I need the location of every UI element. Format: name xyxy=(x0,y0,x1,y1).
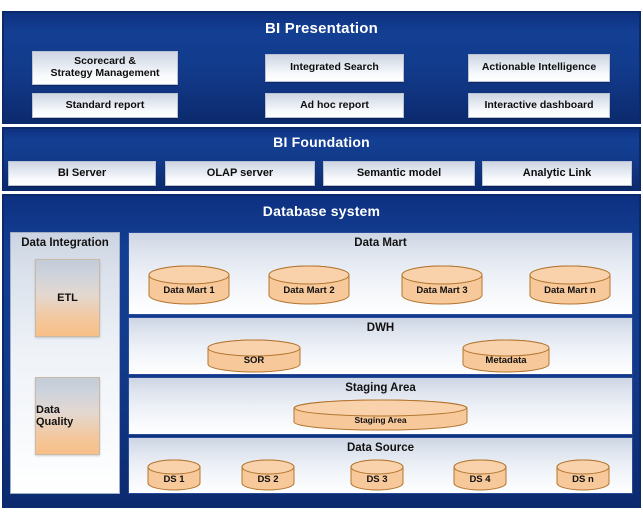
layer-title-dwh: DWH xyxy=(129,322,632,334)
presentation-item-integrated-search[interactable]: Integrated Search xyxy=(265,54,404,82)
foundation-item-label: Semantic model xyxy=(357,167,441,179)
foundation-item-analytic-link[interactable]: Analytic Link xyxy=(482,161,632,186)
foundation-item-label: BI Server xyxy=(58,167,106,179)
data-integration-box-label: Data Quality xyxy=(36,404,99,428)
presentation-item-label-line2: Strategy Management xyxy=(50,68,159,80)
foundation-item-label: Analytic Link xyxy=(523,167,591,179)
layer-title-data-source: Data Source xyxy=(129,442,632,454)
cylinder-data-mart-2[interactable]: Data Mart 2 xyxy=(268,265,350,305)
presentation-item-interactive-dashboard[interactable]: Interactive dashboard xyxy=(468,93,610,118)
cylinder-ds-1[interactable]: DS 1 xyxy=(147,459,201,491)
cylinder-label: Metadata xyxy=(462,355,550,366)
presentation-item-label: Integrated Search xyxy=(290,62,379,74)
cylinder-label: DS n xyxy=(556,474,610,485)
cylinder-label: SOR xyxy=(207,355,301,366)
cylinder-label: DS 4 xyxy=(453,474,507,485)
presentation-item-standard-report[interactable]: Standard report xyxy=(32,93,178,118)
cylinder-ds-2[interactable]: DS 2 xyxy=(241,459,295,491)
foundation-item-bi-server[interactable]: BI Server xyxy=(8,161,156,186)
cylinder-label: Data Mart n xyxy=(529,285,611,296)
layer-title-data-mart: Data Mart xyxy=(129,237,632,249)
database-system-title: Database system xyxy=(4,203,639,219)
cylinder-ds-n[interactable]: DS n xyxy=(556,459,610,491)
presentation-item-ad-hoc-report[interactable]: Ad hoc report xyxy=(265,93,404,118)
layer-panel-dwh: DWH xyxy=(128,317,633,375)
presentation-item-scorecard-strategy-management[interactable]: Scorecard & Strategy Management xyxy=(32,51,178,85)
cylinder-label: DS 1 xyxy=(147,474,201,485)
data-integration-box-data-quality[interactable]: Data Quality xyxy=(35,377,100,455)
cylinder-label: Data Mart 3 xyxy=(401,285,483,296)
presentation-item-label: Interactive dashboard xyxy=(484,100,593,112)
foundation-item-semantic-model[interactable]: Semantic model xyxy=(323,161,475,186)
cylinder-metadata[interactable]: Metadata xyxy=(462,339,550,373)
bi-presentation-title: BI Presentation xyxy=(4,20,639,37)
presentation-item-label: Standard report xyxy=(66,100,145,112)
cylinder-data-mart-n[interactable]: Data Mart n xyxy=(529,265,611,305)
presentation-item-label: Ad hoc report xyxy=(300,100,369,112)
cylinder-label: Data Mart 2 xyxy=(268,285,350,296)
cylinder-label: Data Mart 1 xyxy=(148,285,230,296)
foundation-item-olap-server[interactable]: OLAP server xyxy=(165,161,315,186)
data-integration-box-label: ETL xyxy=(57,292,78,304)
data-integration-box-etl[interactable]: ETL xyxy=(35,259,100,337)
cylinder-ds-3[interactable]: DS 3 xyxy=(350,459,404,491)
cylinder-ds-4[interactable]: DS 4 xyxy=(453,459,507,491)
bi-foundation-title: BI Foundation xyxy=(4,134,639,150)
cylinder-data-mart-3[interactable]: Data Mart 3 xyxy=(401,265,483,305)
cylinder-label: DS 2 xyxy=(241,474,295,485)
layer-title-staging-area: Staging Area xyxy=(129,382,632,394)
foundation-item-label: OLAP server xyxy=(207,167,273,179)
cylinder-label: Staging Area xyxy=(293,415,468,425)
data-integration-title: Data Integration xyxy=(11,237,119,249)
presentation-item-actionable-intelligence[interactable]: Actionable Intelligence xyxy=(468,54,610,82)
cylinder-data-mart-1[interactable]: Data Mart 1 xyxy=(148,265,230,305)
presentation-item-label: Actionable Intelligence xyxy=(482,62,596,74)
bi-architecture-diagram: BI Presentation Scorecard & Strategy Man… xyxy=(0,0,643,512)
cylinder-staging-area[interactable]: Staging Area xyxy=(293,399,468,431)
cylinder-label: DS 3 xyxy=(350,474,404,485)
cylinder-sor[interactable]: SOR xyxy=(207,339,301,373)
